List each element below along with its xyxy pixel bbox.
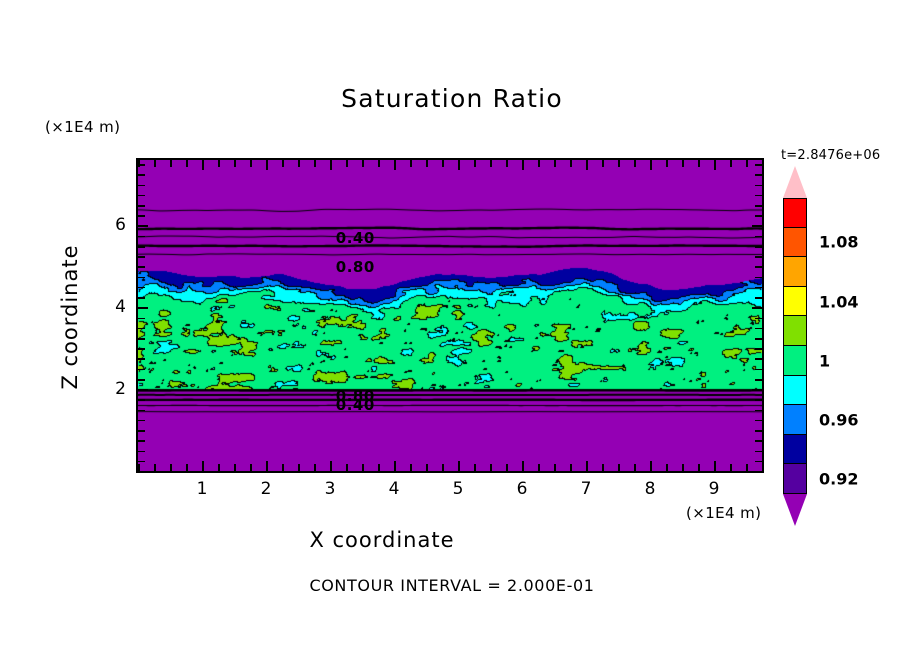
colorbar-cap-bottom-icon <box>783 494 807 526</box>
y-tick-right <box>755 236 762 238</box>
x-tick <box>362 464 364 471</box>
x-tick <box>378 464 380 471</box>
x-tick-top <box>762 160 764 167</box>
y-tick <box>138 389 148 391</box>
x-tick <box>634 464 636 471</box>
x-tick-top <box>682 160 684 167</box>
x-tick <box>394 461 396 471</box>
y-tick-right <box>755 348 762 350</box>
y-tick <box>138 215 145 217</box>
y-tick-right <box>752 225 762 227</box>
x-tick <box>730 464 732 471</box>
y-tick-right <box>755 185 762 187</box>
time-stamp-label: t=2.8476e+06 <box>781 148 880 163</box>
x-tick <box>314 464 316 471</box>
x-tick <box>538 464 540 471</box>
y-tick <box>138 174 145 176</box>
x-tick-label: 6 <box>517 479 528 499</box>
y-tick <box>138 225 148 227</box>
colorbar-tick-label: 1.08 <box>819 233 858 252</box>
x-tick <box>602 464 604 471</box>
y-tick <box>138 246 145 248</box>
y-tick <box>138 277 145 279</box>
x-tick-top <box>250 160 252 167</box>
x-tick-top <box>650 160 652 170</box>
x-tick <box>202 461 204 471</box>
x-tick-top <box>282 160 284 167</box>
x-tick <box>170 464 172 471</box>
x-tick <box>234 464 236 471</box>
x-tick <box>186 464 188 471</box>
y-tick <box>138 328 145 330</box>
y-tick <box>138 358 145 360</box>
y-tick <box>138 287 145 289</box>
x-tick-top <box>314 160 316 167</box>
x-tick <box>618 464 620 471</box>
y-tick-right <box>755 195 762 197</box>
y-tick-right <box>755 215 762 217</box>
x-tick <box>586 461 588 471</box>
x-tick <box>490 464 492 471</box>
y-tick-right <box>755 318 762 320</box>
contour-line-label: 0.80 <box>336 258 375 276</box>
y-tick-label: 2 <box>104 379 126 399</box>
colorbar-band <box>783 346 807 376</box>
y-tick <box>138 236 145 238</box>
colorbar-tick-label: 1 <box>819 351 830 370</box>
y-tick <box>138 256 145 258</box>
x-tick-top <box>170 160 172 167</box>
x-tick <box>154 464 156 471</box>
x-tick-top <box>154 160 156 167</box>
x-tick <box>442 464 444 471</box>
y-tick <box>138 420 145 422</box>
y-tick <box>138 338 145 340</box>
x-tick-top <box>330 160 332 170</box>
figure-root: Saturation Ratio (×1E4 m) t=2.8476e+06 0… <box>0 0 904 654</box>
y-tick-right <box>755 451 762 453</box>
y-tick <box>138 369 145 371</box>
x-tick-top <box>458 160 460 170</box>
y-tick-right <box>755 399 762 401</box>
colorbar-band <box>783 257 807 287</box>
x-tick-top <box>554 160 556 167</box>
y-tick <box>138 348 145 350</box>
x-tick <box>458 461 460 471</box>
y-tick <box>138 318 145 320</box>
y-tick-right <box>752 389 762 391</box>
y-tick-right <box>755 297 762 299</box>
y-tick-right <box>755 440 762 442</box>
x-tick <box>554 464 556 471</box>
x-tick <box>410 464 412 471</box>
x-tick-top <box>218 160 220 167</box>
y-tick-label: 4 <box>104 297 126 317</box>
y-tick-right <box>755 266 762 268</box>
x-tick <box>346 464 348 471</box>
contour-plot-area[interactable]: 0.400.800.800.40 <box>136 158 764 473</box>
y-tick-right <box>755 256 762 258</box>
x-tick-top <box>266 160 268 170</box>
y-tick <box>138 430 145 432</box>
colorbar-band <box>783 287 807 317</box>
x-tick <box>138 464 140 471</box>
colorbar-band <box>783 464 807 494</box>
x-tick-label: 1 <box>197 479 208 499</box>
colorbar-tick-label: 1.04 <box>819 292 858 311</box>
x-tick <box>330 461 332 471</box>
x-tick-top <box>666 160 668 167</box>
y-tick-right <box>755 338 762 340</box>
page-title: Saturation Ratio <box>0 84 904 113</box>
colorbar-cap-top-icon <box>783 166 807 198</box>
contour-line-label: 0.40 <box>336 229 375 247</box>
x-tick <box>650 461 652 471</box>
y-tick-right <box>755 277 762 279</box>
x-tick <box>714 461 716 471</box>
x-tick-top <box>442 160 444 167</box>
x-tick-top <box>378 160 380 167</box>
x-tick-top <box>186 160 188 167</box>
x-axis-title: X coordinate <box>0 528 764 552</box>
x-tick-top <box>746 160 748 167</box>
y-tick <box>138 461 145 463</box>
x-tick-top <box>490 160 492 167</box>
x-tick-top <box>586 160 588 170</box>
x-tick <box>570 464 572 471</box>
x-tick-top <box>730 160 732 167</box>
y-tick <box>138 451 145 453</box>
y-tick-right <box>755 410 762 412</box>
y-tick <box>138 307 148 309</box>
colorbar-band <box>783 376 807 406</box>
x-axis-unit-label: (×1E4 m) <box>686 504 761 522</box>
x-tick-label: 7 <box>581 479 592 499</box>
x-tick-top <box>506 160 508 167</box>
x-tick-top <box>538 160 540 167</box>
x-tick <box>218 464 220 471</box>
x-tick <box>682 464 684 471</box>
y-tick-right <box>755 328 762 330</box>
y-tick-right <box>755 205 762 207</box>
colorbar-tick-label: 0.96 <box>819 411 858 430</box>
x-tick-label: 5 <box>453 479 464 499</box>
y-tick-right <box>755 420 762 422</box>
y-tick <box>138 266 145 268</box>
x-tick-top <box>410 160 412 167</box>
y-tick <box>138 379 145 381</box>
x-tick-top <box>298 160 300 167</box>
x-tick <box>506 464 508 471</box>
y-tick-right <box>755 358 762 360</box>
x-tick <box>762 464 764 471</box>
x-tick-top <box>474 160 476 167</box>
z-axis-unit-label: (×1E4 m) <box>45 118 120 136</box>
y-tick <box>138 399 145 401</box>
x-tick <box>426 464 428 471</box>
y-tick-right <box>755 369 762 371</box>
x-tick-top <box>346 160 348 167</box>
colorbar[interactable]: 1.081.0410.960.92 <box>783 198 807 494</box>
contour-interval-label: CONTOUR INTERVAL = 2.000E-01 <box>0 576 904 595</box>
y-tick <box>138 410 145 412</box>
x-tick-label: 2 <box>261 479 272 499</box>
y-tick-label: 6 <box>104 215 126 235</box>
y-tick-right <box>755 246 762 248</box>
colorbar-band <box>783 435 807 465</box>
colorbar-band <box>783 198 807 228</box>
y-tick <box>138 471 145 473</box>
x-tick-top <box>618 160 620 167</box>
colorbar-band <box>783 228 807 258</box>
colorbar-band <box>783 316 807 346</box>
y-tick-right <box>755 164 762 166</box>
x-tick-top <box>394 160 396 170</box>
y-tick-right <box>755 471 762 473</box>
x-tick <box>698 464 700 471</box>
y-axis-title: Z coordinate <box>58 207 82 427</box>
x-tick-label: 4 <box>389 479 400 499</box>
y-tick <box>138 440 145 442</box>
x-tick-top <box>202 160 204 170</box>
x-tick <box>250 464 252 471</box>
y-tick-right <box>755 287 762 289</box>
colorbar-band <box>783 405 807 435</box>
y-tick-right <box>755 174 762 176</box>
x-tick <box>746 464 748 471</box>
x-tick-top <box>602 160 604 167</box>
x-tick <box>298 464 300 471</box>
x-tick-label: 8 <box>645 479 656 499</box>
y-tick-right <box>755 461 762 463</box>
x-tick-label: 3 <box>325 479 336 499</box>
x-tick-top <box>634 160 636 167</box>
x-tick-top <box>426 160 428 167</box>
contour-line-label: 0.40 <box>336 396 375 414</box>
x-tick-top <box>522 160 524 170</box>
y-tick <box>138 297 145 299</box>
x-tick-top <box>570 160 572 167</box>
y-tick-right <box>755 430 762 432</box>
x-tick <box>666 464 668 471</box>
y-tick <box>138 185 145 187</box>
x-tick <box>282 464 284 471</box>
x-tick-top <box>234 160 236 167</box>
y-tick <box>138 205 145 207</box>
contour-field-canvas <box>138 160 762 471</box>
x-tick <box>474 464 476 471</box>
x-tick-top <box>362 160 364 167</box>
colorbar-tick-label: 0.92 <box>819 470 858 489</box>
x-tick-top <box>714 160 716 170</box>
y-tick-right <box>752 307 762 309</box>
x-tick <box>522 461 524 471</box>
x-tick <box>266 461 268 471</box>
y-tick-right <box>755 379 762 381</box>
y-tick <box>138 195 145 197</box>
x-tick-top <box>698 160 700 167</box>
x-tick-label: 9 <box>709 479 720 499</box>
y-tick <box>138 164 145 166</box>
